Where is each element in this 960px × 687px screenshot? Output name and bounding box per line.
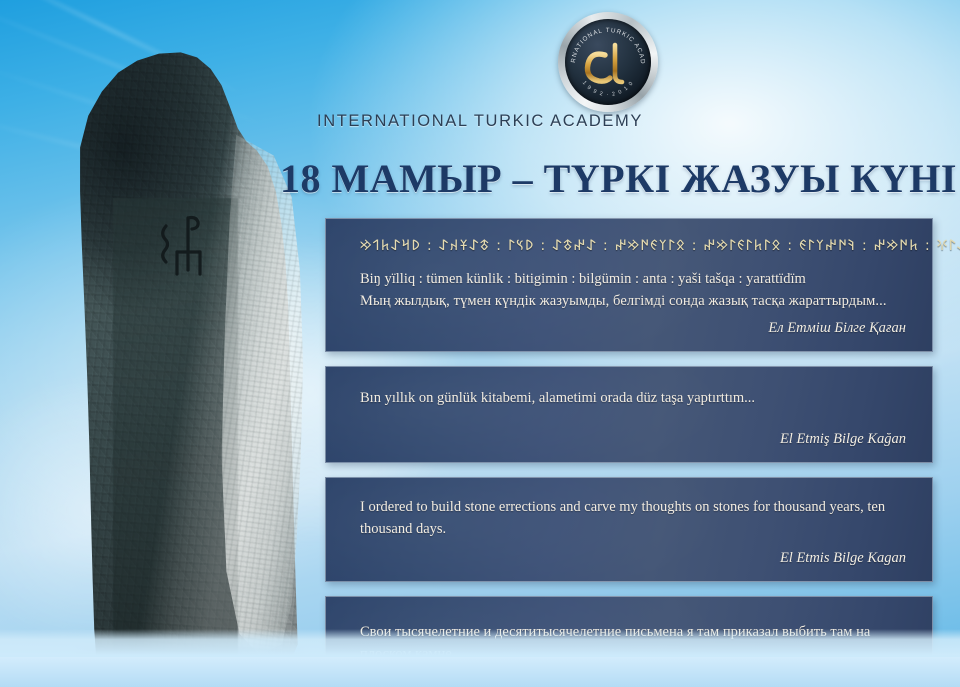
turkish-line: Bın yıllık on günlük kitabemi, alametimi… [360,387,906,409]
panel-turkish: Bın yıllık on günlük kitabemi, alametimi… [325,366,933,463]
light-ray [0,64,224,146]
poster-canvas: INTERNATIONAL TURKIC ACADEMY 1 9 9 2 · 2… [0,0,960,687]
stone-base-shadow [75,648,303,673]
russian-line: Свои тысячелетние и десятитысячелетние п… [360,621,906,665]
medallion-face: INTERNATIONAL TURKIC ACADEMY 1 9 9 2 · 2… [565,19,651,105]
stone-body [42,46,314,680]
transliteration-line: Biŋ yïlliq : tümen künlik : bitigimin : … [360,268,906,290]
stone-texture [42,46,314,680]
stone-stele-image [42,46,314,680]
stone-edge-texture [222,135,304,655]
panel-english: I ordered to build stone errections and … [325,477,933,582]
page-title: 18 МАМЫР – ТҮРКІ ЖАЗУЫ КҮНІ [280,155,950,202]
light-ray [0,0,245,97]
sky-glow [0,380,240,640]
old-turkic-runic-line: 𐰋𐰃𐰭 : 𐰖𐰃𐰞𐰞𐰃𐰍 : 𐱅𐰇𐰢𐰤 : 𐰚𐰇𐰤𐰠𐰃𐰏 : 𐰋𐰃𐱅𐰃𐰏𐰃𐰢𐰤 … [360,235,906,255]
academy-monogram-icon [579,37,637,91]
attribution-turkish: El Etmiş Bilge Kağan [360,431,906,448]
quote-panels: 𐰋𐰃𐰭 : 𐰖𐰃𐰞𐰞𐰃𐰍 : 𐱅𐰇𐰢𐰤 : 𐰚𐰇𐰤𐰠𐰃𐰏 : 𐰋𐰃𐱅𐰃𐰏𐰃𐰢𐰤 … [325,218,933,687]
turkic-academy-logo: INTERNATIONAL TURKIC ACADEMY 1 9 9 2 · 2… [558,12,658,112]
panel-russian: Свои тысячелетние и десятитысячелетние п… [325,596,933,687]
stone-lit-edge [222,135,304,655]
old-turkic-tamga-icon [156,208,210,302]
kazakh-line: Мың жылдық, түмен күндік жазуымды, белгі… [360,290,906,312]
stone-inscribed-face [113,198,238,654]
organization-name: INTERNATIONAL TURKIC ACADEMY [0,112,960,131]
light-ray [0,0,268,128]
attribution-english: El Etmis Bilge Kagan [360,550,906,567]
english-line: I ordered to build stone errections and … [360,496,906,540]
attribution-kazakh: Ел Етміш Білге Қаған [360,320,906,337]
panel-old-turkic: 𐰋𐰃𐰭 : 𐰖𐰃𐰞𐰞𐰃𐰍 : 𐱅𐰇𐰢𐰤 : 𐰚𐰇𐰤𐰠𐰃𐰏 : 𐰋𐰃𐱅𐰃𐰏𐰃𐰢𐰤 … [325,218,933,352]
